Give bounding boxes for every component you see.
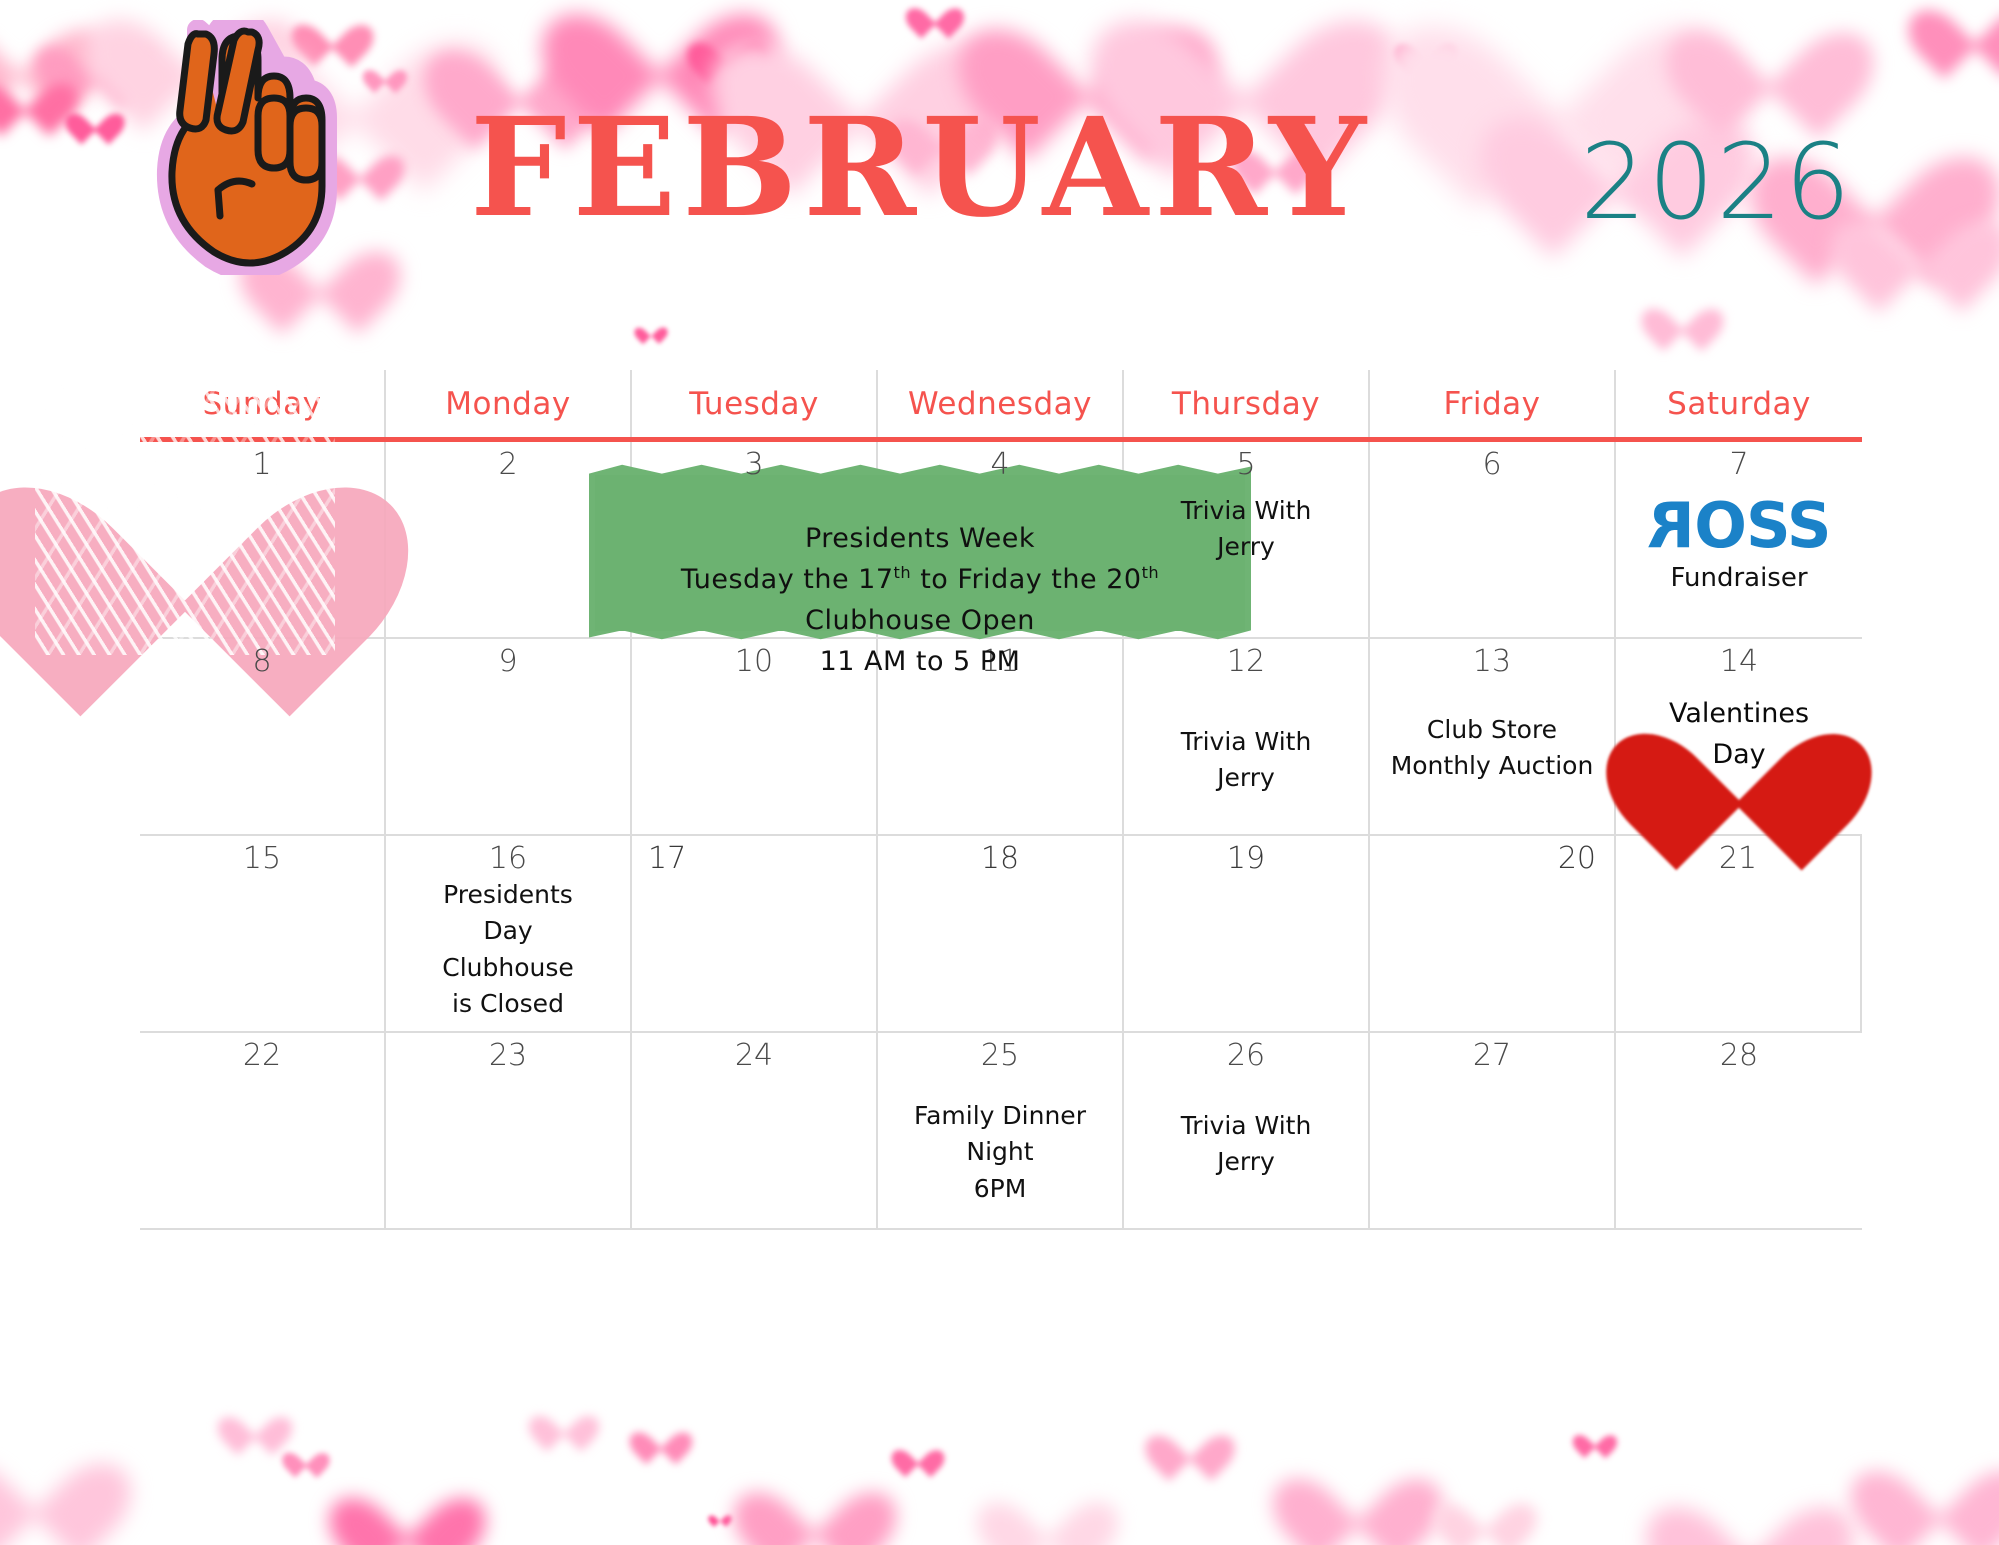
weekday-sunday: Sunday (140, 370, 386, 437)
background-heart-icon (712, 1510, 728, 1524)
day-cell-11[interactable]: 11 (878, 639, 1124, 834)
day-cell-7[interactable]: 7 ROSS Fundraiser (1616, 442, 1862, 637)
background-heart-icon (290, 1442, 322, 1471)
weekday-friday: Friday (1370, 370, 1616, 437)
day-cell-25[interactable]: 25 Family Dinner Night 6PM (878, 1033, 1124, 1228)
weekday-wednesday: Wednesday (878, 370, 1124, 437)
day-cell-22[interactable]: 22 (140, 1033, 386, 1228)
day-number: 4 (878, 448, 1122, 481)
event-label: Trivia With Jerry (1124, 493, 1368, 566)
page-title-year: 2026 (1580, 130, 1853, 234)
day-cell-20[interactable]: 20 (1370, 836, 1616, 1031)
day-number: 13 (1370, 645, 1614, 678)
day-cell-12[interactable]: 12 Trivia With Jerry (1124, 639, 1370, 834)
event-label: Fundraiser (1616, 563, 1862, 593)
day-cell-26[interactable]: 26 Trivia With Jerry (1124, 1033, 1370, 1228)
week-row: 8 9 10 11 12 Trivia With Jerry 13 Club S (140, 639, 1862, 836)
day-number: 19 (1124, 842, 1368, 875)
background-heart-icon (1880, 1430, 1999, 1538)
day-cell-23[interactable]: 23 (386, 1033, 632, 1228)
day-number: 25 (878, 1039, 1122, 1072)
day-number: 16 (386, 842, 630, 875)
day-cell-15[interactable]: 15 (140, 836, 386, 1031)
calendar-header: FEBRUARY 2026 (0, 0, 1999, 370)
day-cell-10[interactable]: 10 (632, 639, 878, 834)
day-cell-27[interactable]: 27 (1370, 1033, 1616, 1228)
weekday-saturday: Saturday (1616, 370, 1862, 437)
day-number: 7 (1616, 448, 1862, 481)
day-cell-13[interactable]: 13 Club Store Monthly Auction (1370, 639, 1616, 834)
day-cell-6[interactable]: 6 (1370, 442, 1616, 637)
day-number: 20 (1370, 842, 1614, 875)
day-number: 22 (140, 1039, 384, 1072)
event-label: Club Store Monthly Auction (1370, 712, 1614, 785)
ross-logo: ROSS (1616, 495, 1862, 557)
day-cell-2[interactable]: 2 (386, 442, 632, 637)
background-heart-icon (900, 1438, 936, 1470)
day-number: 28 (1616, 1039, 1862, 1072)
day-number: 3 (632, 448, 876, 481)
background-heart-icon (1680, 1460, 1820, 1545)
day-cell-19[interactable]: 19 (1124, 836, 1370, 1031)
background-heart-icon (760, 1455, 870, 1545)
weekday-header-row: Sunday Monday Tuesday Wednesday Thursday… (140, 370, 1862, 442)
day-number: 23 (386, 1039, 630, 1072)
day-cell-1[interactable]: 1 (140, 442, 386, 637)
background-heart-icon (0, 1420, 100, 1535)
ross-logo-r-glyph: R (1648, 495, 1695, 557)
day-cell-21[interactable]: 21 (1616, 836, 1862, 1031)
event-label: Trivia With Jerry (1124, 1108, 1368, 1181)
day-cell-5[interactable]: 5 Trivia With Jerry (1124, 442, 1370, 637)
day-number: 27 (1370, 1039, 1614, 1072)
week-row: 22 23 24 25 Family Dinner Night 6PM 26 T… (140, 1033, 1862, 1230)
day-number: 14 (1616, 645, 1862, 678)
day-cell-16[interactable]: 16 Presidents Day Clubhouse is Closed (386, 836, 632, 1031)
day-number: 2 (386, 448, 630, 481)
day-number: 15 (140, 842, 384, 875)
event-label: Family Dinner Night 6PM (878, 1098, 1122, 1207)
weekday-thursday: Thursday (1124, 370, 1370, 437)
background-heart-icon (1000, 1470, 1095, 1545)
calendar-grid: Sunday Monday Tuesday Wednesday Thursday… (140, 370, 1862, 1433)
event-label: Trivia With Jerry (1124, 724, 1368, 797)
day-number: 5 (1124, 448, 1368, 481)
background-heart-icon (1300, 1440, 1415, 1542)
day-cell-18[interactable]: 18 (878, 836, 1124, 1031)
day-number: 1 (140, 448, 384, 481)
page-title-month: FEBRUARY (470, 100, 1372, 236)
day-cell-4[interactable]: 4 (878, 442, 1124, 637)
day-cell-28[interactable]: 28 (1616, 1033, 1862, 1228)
event-label: Presidents Day Clubhouse is Closed (386, 877, 630, 1022)
event-label: Valentines Day (1616, 694, 1862, 775)
day-cell-8[interactable]: 8 (140, 639, 386, 834)
calendar-page: FEBRUARY 2026 Sunday Monday Tuesday Wedn… (0, 0, 1999, 1545)
day-number: 11 (878, 645, 1122, 678)
background-heart-icon (1450, 1480, 1520, 1542)
peace-hand-sticker-icon (140, 20, 350, 275)
day-cell-9[interactable]: 9 (386, 639, 632, 834)
day-cell-3[interactable]: 3 (632, 442, 878, 637)
day-cell-17[interactable]: 17 (632, 836, 878, 1031)
day-number: 12 (1124, 645, 1368, 678)
day-cell-24[interactable]: 24 (632, 1033, 878, 1228)
day-number: 10 (632, 645, 876, 678)
day-cell-14[interactable]: 14 Valentines Day (1616, 639, 1862, 834)
weekday-monday: Monday (386, 370, 632, 437)
day-number: 26 (1124, 1039, 1368, 1072)
day-number: 6 (1370, 448, 1614, 481)
background-heart-icon (355, 1462, 460, 1545)
weekday-tuesday: Tuesday (632, 370, 878, 437)
week-row: 1 2 3 4 5 Trivia With Jerry 6 (140, 442, 1862, 639)
day-number: 8 (140, 645, 384, 678)
day-number: 24 (632, 1039, 876, 1072)
week-row: 15 16 Presidents Day Clubhouse is Closed… (140, 836, 1862, 1033)
day-number: 18 (878, 842, 1122, 875)
calendar-weeks: 1 2 3 4 5 Trivia With Jerry 6 (140, 442, 1862, 1230)
day-number: 17 (632, 842, 876, 875)
day-number: 9 (386, 645, 630, 678)
day-number: 21 (1616, 842, 1860, 875)
